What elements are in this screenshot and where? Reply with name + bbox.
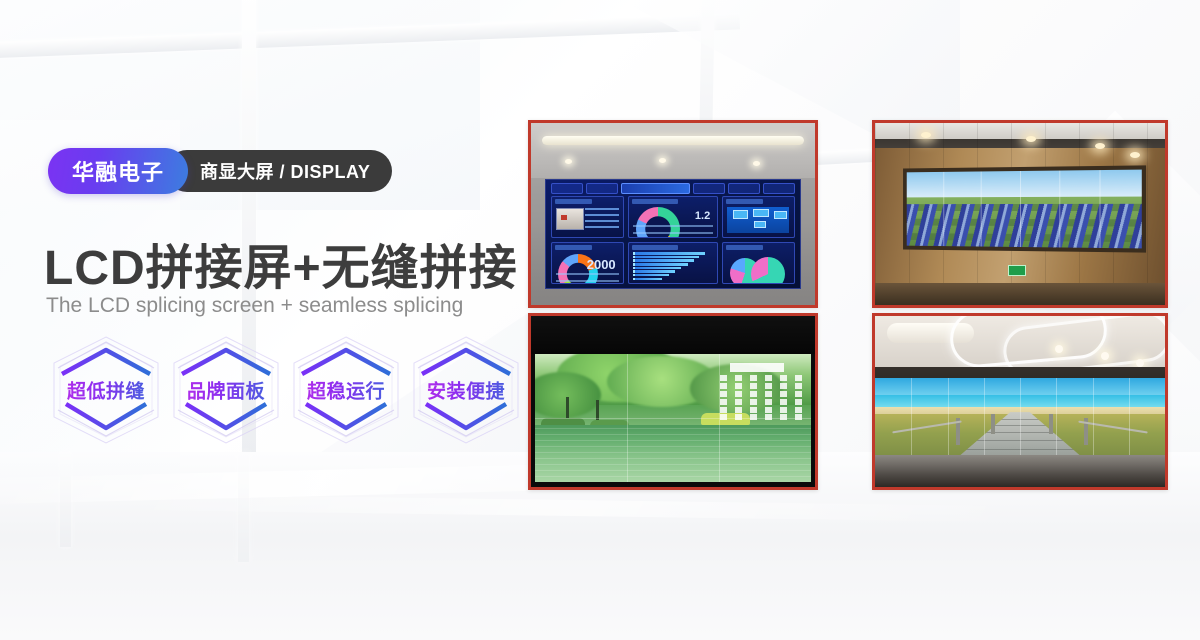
tagline-pill: 商显大屏 / DISPLAY — [166, 150, 392, 192]
page-title: LCD拼接屏+无缝拼接 — [44, 228, 518, 298]
gallery-photo-willow-lake-video-wall — [528, 313, 818, 490]
brand-badge-row: 华融电子 商显大屏 / DISPLAY — [48, 148, 392, 194]
feature-badge: 超低拼缝 — [48, 334, 164, 446]
product-banner: 华融电子 商显大屏 / DISPLAY LCD拼接屏+无缝拼接 The LCD … — [0, 0, 1200, 640]
feature-label: 超低拼缝 — [48, 377, 164, 404]
page-subtitle: The LCD splicing screen + seamless splic… — [46, 294, 463, 318]
feature-badge: 品牌面板 — [168, 334, 284, 446]
feature-label: 超稳运行 — [288, 377, 404, 404]
feature-label: 安装便捷 — [408, 377, 524, 404]
feature-badge-list: 超低拼缝 品牌面板 超稳运行 — [48, 334, 524, 446]
brand-pill: 华融电子 — [48, 148, 188, 194]
gallery-photo-beach-boardwalk-curved-video-wall — [872, 313, 1168, 490]
feature-badge: 安装便捷 — [408, 334, 524, 446]
feature-badge: 超稳运行 — [288, 334, 404, 446]
gallery-photo-solar-farm-wide-video-wall — [872, 120, 1168, 308]
gallery-photo-control-room-dashboard-video-wall: 1.2 — [528, 120, 818, 308]
feature-label: 品牌面板 — [168, 377, 284, 404]
